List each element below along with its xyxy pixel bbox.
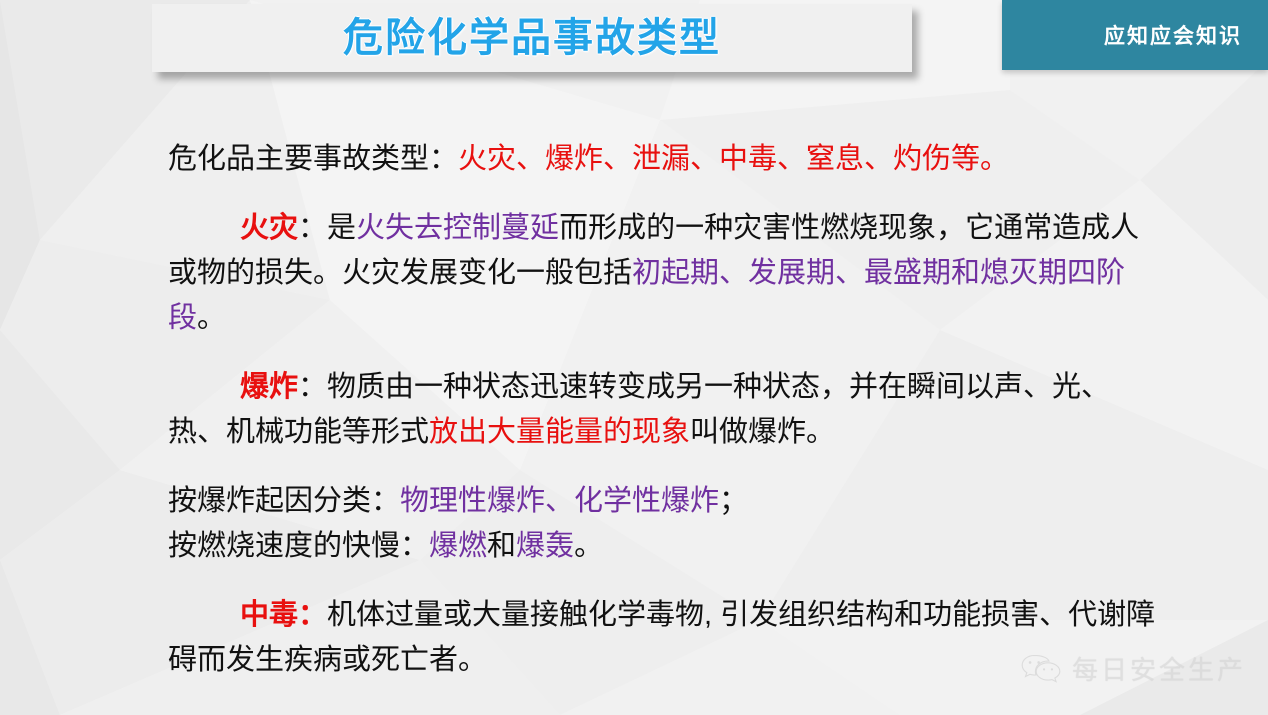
- explosion-speed-end: 。: [574, 530, 603, 562]
- page-title: 危险化学品事故类型: [343, 18, 721, 58]
- explosion-energy-highlight: 放出大量能量的现象: [429, 416, 690, 448]
- watermark-label: 每日安全生产: [1072, 650, 1246, 687]
- explosion-cause-label: 按爆炸起因分类：: [168, 485, 400, 517]
- paragraph-poisoning: 中毒：机体过量或大量接触化学毒物, 引发组织结构和功能损害、代谢障碍而发生疾病或…: [168, 593, 1168, 683]
- paragraph-explosion-by-cause: 按爆炸起因分类：物理性爆炸、化学性爆炸；: [168, 479, 1168, 524]
- keyword-explosion: 爆炸: [240, 371, 298, 403]
- explosion-speed-label: 按燃烧速度的快慢：: [168, 530, 429, 562]
- paragraph-explosion: 爆炸：物质由一种状态迅速转变成另一种状态，并在瞬间以声、光、热、机械功能等形式放…: [168, 365, 1168, 455]
- fire-definition-highlight: 火失去控制蔓延: [356, 212, 559, 244]
- slide-title-plaque: 危险化学品事故类型: [152, 4, 912, 72]
- explosion-speed-conjunction: 和: [487, 530, 516, 562]
- paragraph-intro: 危化品主要事故类型：火灾、爆炸、泄漏、中毒、窒息、灼伤等。: [168, 137, 1168, 182]
- paragraph-explosion-by-speed: 按燃烧速度的快慢：爆燃和爆轰。: [168, 524, 1168, 569]
- intro-accident-list: 火灾、爆炸、泄漏、中毒、窒息、灼伤等。: [458, 143, 1009, 175]
- corner-badge-label: 应知应会知识: [1104, 20, 1268, 50]
- intro-label: 危化品主要事故类型：: [168, 143, 458, 175]
- explosion-segment-3: 叫做爆炸。: [690, 416, 835, 448]
- explosion-colon: ：: [298, 371, 327, 403]
- fire-colon: ：: [298, 212, 327, 244]
- slide-canvas: 危险化学品事故类型 应知应会知识 危化品主要事故类型：火灾、爆炸、泄漏、中毒、窒…: [0, 0, 1268, 715]
- explosion-cause-end: ；: [719, 485, 748, 517]
- corner-badge: 应知应会知识: [1002, 0, 1268, 70]
- explosion-speed-type-2: 爆轰: [516, 530, 574, 562]
- slide-body: 危化品主要事故类型：火灾、爆炸、泄漏、中毒、窒息、灼伤等。 火灾：是火失去控制蔓…: [168, 137, 1168, 683]
- fire-segment-1: 是: [327, 212, 356, 244]
- keyword-fire: 火灾: [240, 212, 298, 244]
- keyword-poisoning: 中毒: [240, 599, 298, 631]
- wechat-icon: [1020, 652, 1062, 686]
- explosion-speed-type-1: 爆燃: [429, 530, 487, 562]
- fire-segment-5: 。: [197, 302, 226, 334]
- paragraph-fire: 火灾：是火失去控制蔓延而形成的一种灾害性燃烧现象，它通常造成人或物的损失。火灾发…: [168, 206, 1168, 341]
- explosion-cause-types: 物理性爆炸、化学性爆炸: [400, 485, 719, 517]
- poisoning-colon: ：: [298, 599, 327, 631]
- watermark: 每日安全生产: [1020, 650, 1246, 687]
